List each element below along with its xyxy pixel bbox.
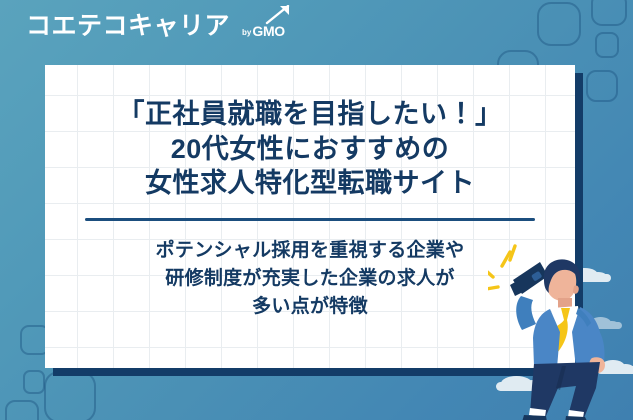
headline-line-2: 20代女性におすすめの xyxy=(118,132,503,167)
brand-gmo-text: GMO xyxy=(252,24,285,38)
page-title: 「正社員就職を目指したい！」 20代女性におすすめの 女性求人特化型転職サイト xyxy=(118,97,503,201)
rounded-square-decor-icon xyxy=(44,371,96,420)
banner: コエテコキャリア by GMO 「正社員就職を目指したい！」 20代女性におすす… xyxy=(0,0,633,420)
subhead-line-1: ポテンシャル採用を重視する企業や xyxy=(156,237,465,265)
content-card: 「正社員就職を目指したい！」 20代女性におすすめの 女性求人特化型転職サイト … xyxy=(45,65,575,368)
rounded-square-decor-icon xyxy=(23,370,45,394)
rounded-square-decor-icon xyxy=(586,70,618,102)
rounded-square-decor-icon xyxy=(591,0,627,26)
arrow-icon xyxy=(265,5,291,25)
cloud-icon xyxy=(597,366,633,374)
brand-logo-text: コエテコキャリア xyxy=(26,14,230,39)
title-divider xyxy=(85,218,535,221)
rounded-square-decor-icon xyxy=(537,2,581,46)
brand-by-prefix: by xyxy=(242,29,251,37)
cloud-icon xyxy=(586,322,622,329)
brand-logo: コエテコキャリア by GMO xyxy=(26,14,285,39)
brand-by-gmo: by GMO xyxy=(242,24,285,38)
headline-line-1: 「正社員就職を目指したい！」 xyxy=(118,97,503,132)
subhead-line-2: 研修制度が充実した企業の求人が xyxy=(156,265,465,293)
headline-line-3: 女性求人特化型転職サイト xyxy=(118,166,503,201)
subhead-line-3: 多い点が特徴 xyxy=(156,293,465,321)
cloud-icon xyxy=(496,382,548,391)
rounded-square-decor-icon xyxy=(595,32,619,58)
rounded-square-decor-icon xyxy=(5,400,39,420)
page-subtitle: ポテンシャル採用を重視する企業や 研修制度が充実した企業の求人が 多い点が特徴 xyxy=(156,237,465,321)
